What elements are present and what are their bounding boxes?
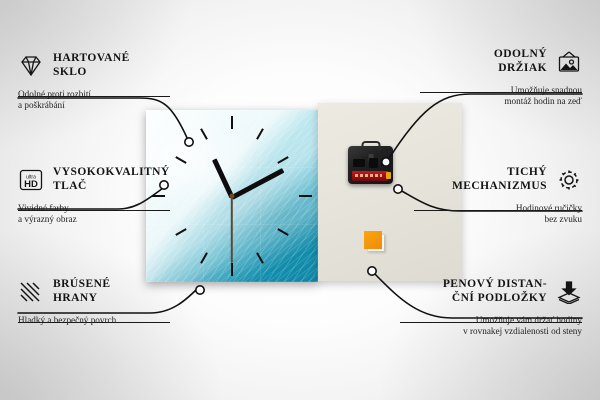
feature-divider bbox=[420, 92, 582, 93]
feature-title: BRÚSENÉ HRANY bbox=[53, 278, 110, 305]
hatched-edges-icon bbox=[18, 280, 44, 304]
diamond-icon bbox=[18, 54, 44, 78]
feature-durable-holder: ODOLNÝ DRŽIAK Umožňuje snadnou montáž ho… bbox=[420, 48, 582, 108]
ultra-hd-icon: ultra HD bbox=[18, 168, 44, 192]
feature-title: PENOVÝ DISTAN- ČNÍ PODLOŽKY bbox=[443, 278, 547, 305]
feature-description: Hladký a bezpečný povrch bbox=[18, 315, 170, 326]
layers-down-arrow-icon bbox=[556, 280, 582, 304]
gear-icon bbox=[556, 168, 582, 192]
infographic-canvas: HARTOVANÉ SKLO Odolné proti rozbití a po… bbox=[0, 0, 600, 400]
feature-silent-mechanism: TICHÝ MECHANIZMUS Hodinové ručičky bez z… bbox=[414, 166, 582, 226]
connector-endpoints bbox=[160, 138, 402, 294]
feature-divider bbox=[18, 322, 170, 323]
feature-description: Hodinové ručičky bez zvuku bbox=[414, 203, 582, 226]
endpoint-mechanism bbox=[394, 185, 402, 193]
endpoint-tempered-glass bbox=[185, 138, 193, 146]
feature-divider bbox=[18, 96, 170, 97]
feature-divider bbox=[18, 210, 170, 211]
feature-description: Umožňuje snadnou montáž hodin na zeď bbox=[420, 85, 582, 108]
feature-title: HARTOVANÉ SKLO bbox=[53, 52, 130, 79]
ultra-hd-main-label: HD bbox=[24, 179, 38, 190]
feature-high-quality-print: ultra HD VYSOKOKVALITNÝ TLAČ Vividné far… bbox=[18, 166, 170, 226]
feature-title: ODOLNÝ DRŽIAK bbox=[494, 48, 547, 75]
endpoint-foam bbox=[368, 267, 376, 275]
clock-center-hub bbox=[230, 194, 235, 199]
feature-description: Umožňuje vám držať hodiny v rovnakej vzd… bbox=[400, 315, 582, 338]
feature-foam-spacers: PENOVÝ DISTAN- ČNÍ PODLOŽKY Umožňuje vám… bbox=[400, 278, 582, 338]
feature-title: VYSOKOKVALITNÝ TLAČ bbox=[53, 166, 170, 193]
feature-description: Odolné proti rozbití a poškrábání bbox=[18, 89, 170, 112]
feature-title: TICHÝ MECHANIZMUS bbox=[452, 166, 547, 193]
feature-polished-edges: BRÚSENÉ HRANY Hladký a bezpečný povrch bbox=[18, 278, 170, 326]
endpoint-edges bbox=[196, 286, 204, 294]
feature-divider bbox=[400, 322, 582, 323]
feature-tempered-glass: HARTOVANÉ SKLO Odolné proti rozbití a po… bbox=[18, 52, 170, 112]
feature-divider bbox=[414, 210, 582, 211]
picture-hanger-icon bbox=[556, 50, 582, 74]
endpoint-holder bbox=[382, 158, 390, 166]
feature-description: Vividné farby a výrazný obraz bbox=[18, 203, 170, 226]
